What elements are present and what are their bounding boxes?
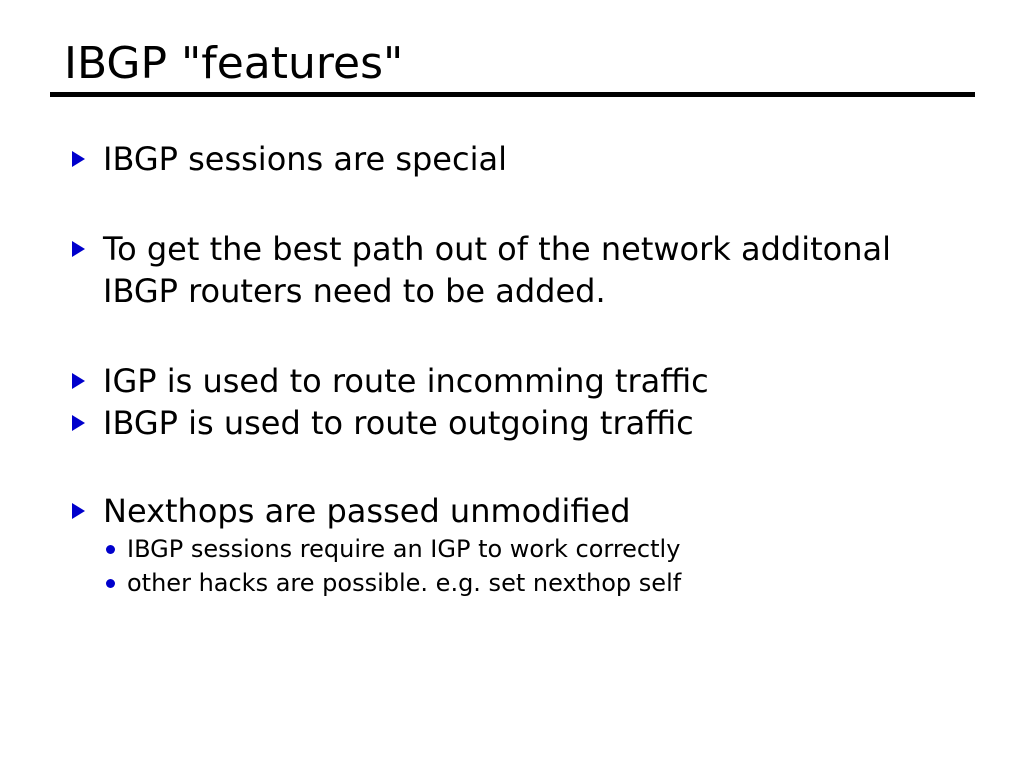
list-item-label: IGP is used to route incomming traffic [103, 360, 933, 402]
dot-bullet-icon [106, 545, 115, 554]
list-item: IGP is used to route incomming traffic [72, 360, 972, 402]
slide-title-block: IBGP "features" [50, 40, 975, 97]
triangle-bullet-icon [72, 151, 85, 167]
triangle-bullet-icon [72, 415, 85, 431]
triangle-bullet-icon [72, 373, 85, 389]
list-item-label: Nexthops are passed unmodified [103, 490, 933, 532]
page-title: IBGP "features" [50, 40, 975, 88]
dot-bullet-icon [106, 579, 115, 588]
bullet-group-spacer [72, 180, 972, 228]
triangle-bullet-icon [72, 503, 85, 519]
list-item-label: IBGP is used to route outgoing traffic [103, 402, 933, 444]
list-item: IBGP is used to route outgoing traffic [72, 402, 972, 444]
presentation-slide: IBGP "features" IBGP sessions are specia… [0, 0, 1024, 768]
list-item: Nexthops are passed unmodified [72, 490, 972, 532]
list-item-label: other hacks are possible. e.g. set nexth… [127, 566, 972, 600]
list-item: other hacks are possible. e.g. set nexth… [106, 566, 972, 600]
list-item-label: IBGP sessions require an IGP to work cor… [127, 532, 972, 566]
list-item-label: IBGP sessions are special [103, 138, 933, 180]
bullet-group-spacer [72, 312, 972, 360]
list-item: IBGP sessions are special [72, 138, 972, 180]
slide-body: IBGP sessions are special To get the bes… [72, 138, 972, 600]
list-item: To get the best path out of the network … [72, 228, 972, 312]
bullet-group-spacer [72, 444, 972, 490]
list-item: IBGP sessions require an IGP to work cor… [106, 532, 972, 566]
list-item-label: To get the best path out of the network … [103, 228, 933, 312]
title-divider [50, 92, 975, 97]
triangle-bullet-icon [72, 241, 85, 257]
